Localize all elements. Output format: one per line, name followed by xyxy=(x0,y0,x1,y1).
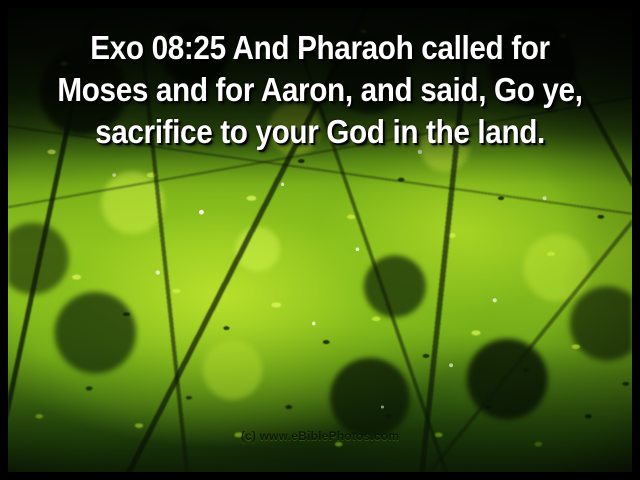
verse-image-canvas: Exo 08:25 And Pharaoh called for Moses a… xyxy=(0,0,640,480)
foliage-photograph xyxy=(8,8,632,472)
vignette-overlay xyxy=(8,8,632,472)
